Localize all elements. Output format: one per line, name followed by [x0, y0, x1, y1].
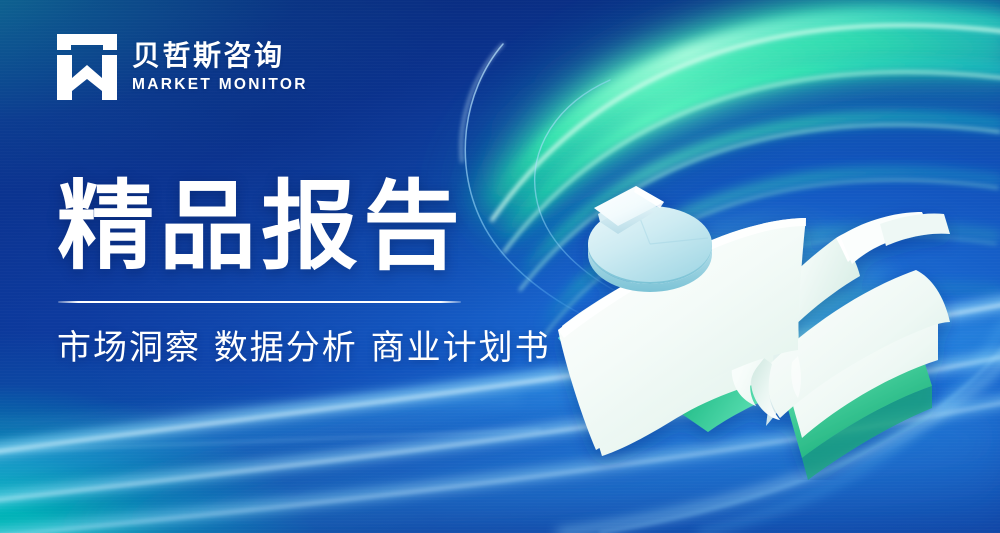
brand-logo[interactable]: 贝哲斯咨询 MARKET MONITOR: [56, 33, 308, 101]
page-title: 精品报告: [57, 176, 577, 278]
hero-copy-block: 精品报告 市场洞察 数据分析 商业计划书: [57, 176, 577, 369]
pie-chart-disc: [588, 186, 712, 292]
report-banner: 贝哲斯咨询 MARKET MONITOR 精品报告 市场洞察 数据分析 商业计划…: [0, 0, 1000, 533]
open-book-illustration: [540, 150, 960, 480]
hero-subtitle: 市场洞察 数据分析 商业计划书: [57, 327, 577, 370]
brand-name-cn: 贝哲斯咨询: [132, 41, 308, 70]
brand-logo-text: 贝哲斯咨询 MARKET MONITOR: [132, 41, 308, 93]
market-monitor-m-icon: [56, 33, 118, 101]
brand-name-en: MARKET MONITOR: [132, 77, 308, 93]
title-divider: [58, 301, 461, 303]
